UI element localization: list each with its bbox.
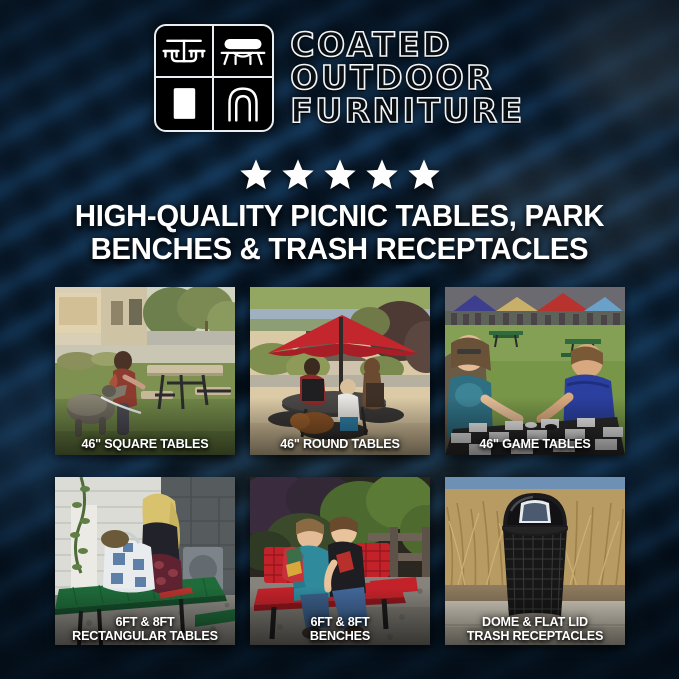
product-tile-benches[interactable]: 6FT & 8FT BENCHES <box>250 477 430 645</box>
product-caption: 46" ROUND TABLES <box>250 438 430 451</box>
star-icon <box>281 158 315 191</box>
product-caption: DOME & FLAT LID TRASH RECEPTACLES <box>445 616 625 643</box>
brand-word-coated: COATED <box>290 29 524 61</box>
product-caption: 6FT & 8FT RECTANGULAR TABLES <box>55 616 235 643</box>
product-tile-rectangular-tables[interactable]: 6FT & 8FT RECTANGULAR TABLES <box>55 477 235 645</box>
star-icon <box>407 158 441 191</box>
picnic-table-icon <box>156 26 214 78</box>
product-caption-line-1: 46" SQUARE TABLES <box>82 437 209 451</box>
product-grid: 46" SQUARE TABLES <box>55 287 625 645</box>
product-tile-trash-receptacles[interactable]: DOME & FLAT LID TRASH RECEPTACLES <box>445 477 625 645</box>
product-tile-round-tables[interactable]: 46" ROUND TABLES <box>250 287 430 455</box>
star-icon <box>239 158 273 191</box>
star-rating <box>0 158 679 191</box>
trash-receptacle-icon <box>156 78 214 130</box>
product-caption-line-2: BENCHES <box>252 630 428 643</box>
brand-word-outdoor: OUTDOOR <box>290 62 524 94</box>
product-caption-line-1: 46" ROUND TABLES <box>280 437 399 451</box>
product-caption-line-2: TRASH RECEPTACLES <box>447 630 623 643</box>
product-caption: 6FT & 8FT BENCHES <box>250 616 430 643</box>
headline-line-2: BENCHES & TRASH RECEPTACLES <box>14 233 666 266</box>
product-caption: 46" GAME TABLES <box>445 438 625 451</box>
brand-wordmark: COATED OUTDOOR FURNITURE <box>290 29 524 127</box>
brand-word-furniture: FURNITURE <box>290 95 524 127</box>
logo-icon-grid <box>154 24 274 132</box>
product-caption-line-1: 6FT & 8FT <box>310 615 369 629</box>
product-tile-game-tables[interactable]: 46" GAME TABLES <box>445 287 625 455</box>
product-caption-line-2: RECTANGULAR TABLES <box>57 630 233 643</box>
headline-line-1: HIGH-QUALITY PICNIC TABLES, PARK <box>75 199 604 233</box>
brand-logo: COATED OUTDOOR FURNITURE <box>0 24 679 132</box>
product-tile-square-tables[interactable]: 46" SQUARE TABLES <box>55 287 235 455</box>
bike-rack-icon <box>214 78 272 130</box>
product-caption-line-1: 46" GAME TABLES <box>479 437 590 451</box>
star-icon <box>365 158 399 191</box>
bench-icon <box>214 26 272 78</box>
product-caption-line-1: 6FT & 8FT <box>115 615 174 629</box>
headline: HIGH-QUALITY PICNIC TABLES, PARK BENCHES… <box>14 200 666 266</box>
product-caption-line-1: DOME & FLAT LID <box>482 615 588 629</box>
product-caption: 46" SQUARE TABLES <box>55 438 235 451</box>
star-icon <box>323 158 357 191</box>
